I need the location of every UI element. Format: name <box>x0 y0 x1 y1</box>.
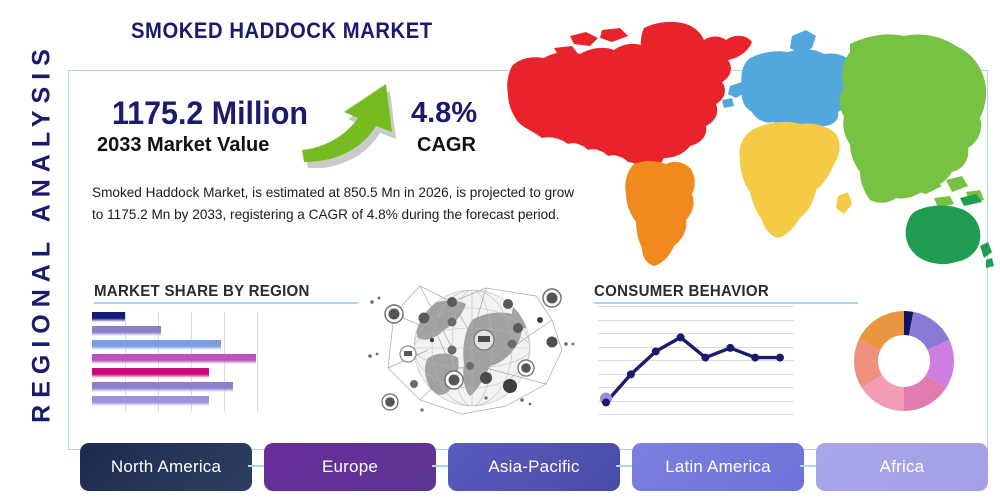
infographic-root: REGIONAL ANALYSIS SMOKED HADDOCK MARKET … <box>0 0 1000 500</box>
region-button-north-america[interactable]: North America <box>80 443 252 491</box>
line-point-6 <box>726 344 734 352</box>
market-share-bar-chart <box>92 312 288 412</box>
line-point-3 <box>652 347 660 355</box>
bar-7 <box>92 396 209 406</box>
line-point-2 <box>627 370 635 378</box>
region-connector <box>248 465 264 467</box>
bar-3 <box>92 340 221 350</box>
line-point-5 <box>701 354 709 362</box>
cagr-figure: 4.8% <box>411 97 477 130</box>
side-label-regional-analysis: REGIONAL ANALYSIS <box>28 23 57 443</box>
bar-1 <box>92 312 125 322</box>
region-button-europe[interactable]: Europe <box>264 443 436 491</box>
region-button-latin-america[interactable]: Latin America <box>632 443 804 491</box>
bar-2 <box>92 326 161 336</box>
line-point-8 <box>776 354 784 362</box>
bar-gridline <box>257 312 258 412</box>
region-connector <box>432 465 448 467</box>
region-button-africa[interactable]: Africa <box>816 443 988 491</box>
line-point-4 <box>677 333 685 341</box>
line-gridline <box>598 414 794 415</box>
growth-arrow-icon <box>300 84 412 168</box>
bar-4 <box>92 354 256 364</box>
line-point-1 <box>602 398 610 406</box>
market-share-heading: MARKET SHARE BY REGION <box>94 283 310 301</box>
bar-5 <box>92 368 209 378</box>
bar-6 <box>92 382 233 392</box>
segment-donut-chart <box>851 308 957 414</box>
cagr-label: CAGR <box>417 134 476 157</box>
consumer-behavior-rule <box>594 302 858 304</box>
market-share-rule <box>94 302 358 304</box>
world-map <box>494 14 994 272</box>
global-network-globe <box>366 272 578 427</box>
region-button-asia-pacific[interactable]: Asia-Pacific <box>448 443 620 491</box>
page-title: SMOKED HADDOCK MARKET <box>131 18 433 44</box>
market-value-figure: 1175.2 Million <box>112 95 308 132</box>
line-point-7 <box>751 354 759 362</box>
consumer-behavior-line-chart <box>598 306 794 414</box>
region-connector <box>616 465 632 467</box>
market-value-label: 2033 Market Value <box>97 134 269 157</box>
consumer-behavior-heading: CONSUMER BEHAVIOR <box>594 283 769 301</box>
region-connector <box>800 465 816 467</box>
